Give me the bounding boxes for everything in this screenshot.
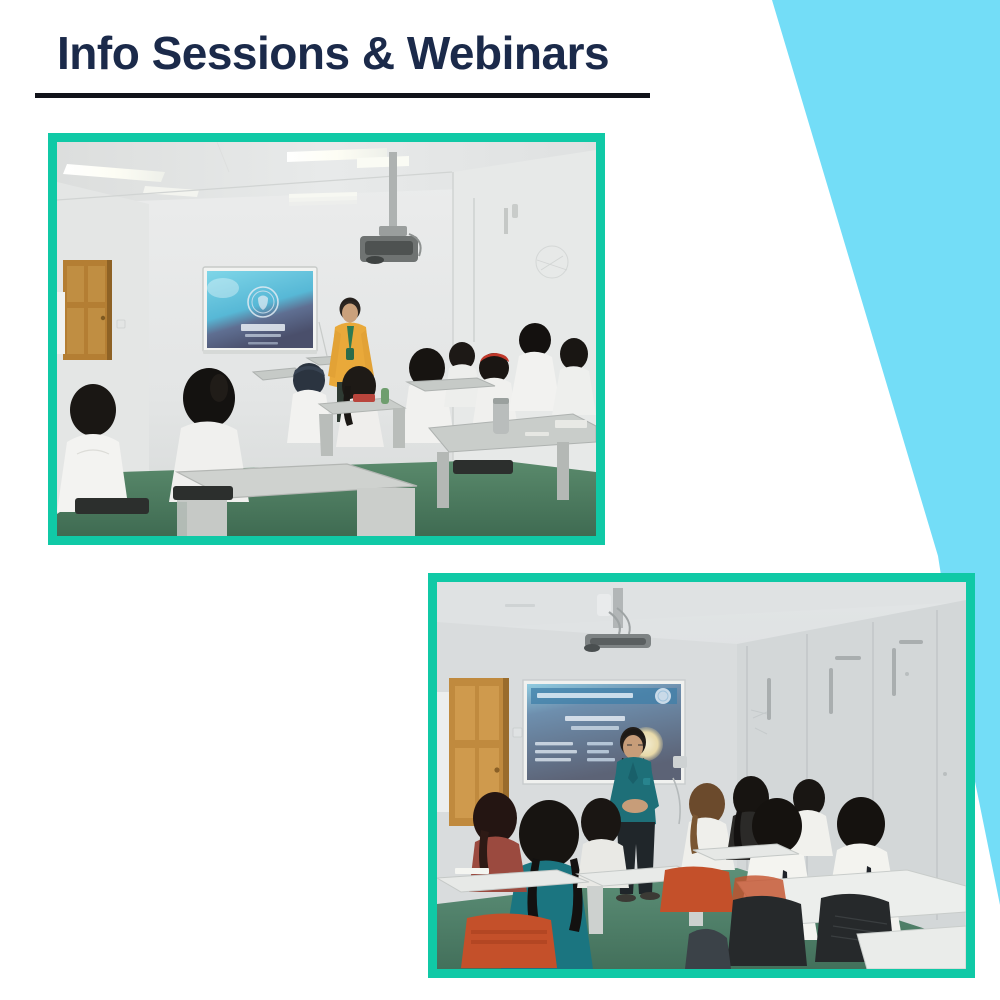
photo-1-image (57, 142, 596, 536)
photo-2-image (437, 582, 966, 969)
classroom-door (57, 260, 112, 360)
projection-screen (203, 267, 327, 356)
photo-card-2[interactable] (428, 573, 975, 978)
page-title: Info Sessions & Webinars (57, 30, 675, 76)
classroom-photo-2-illustration (437, 582, 966, 969)
classroom-photo-1-illustration (57, 142, 596, 536)
screen-logo (248, 287, 278, 317)
title-underline-rule (35, 93, 650, 98)
page-title-block: Info Sessions & Webinars (35, 30, 675, 98)
photo-card-1[interactable] (48, 133, 605, 545)
desk-bottom-right (857, 926, 966, 969)
slide-canvas: Info Sessions & Webinars (0, 0, 1000, 1000)
